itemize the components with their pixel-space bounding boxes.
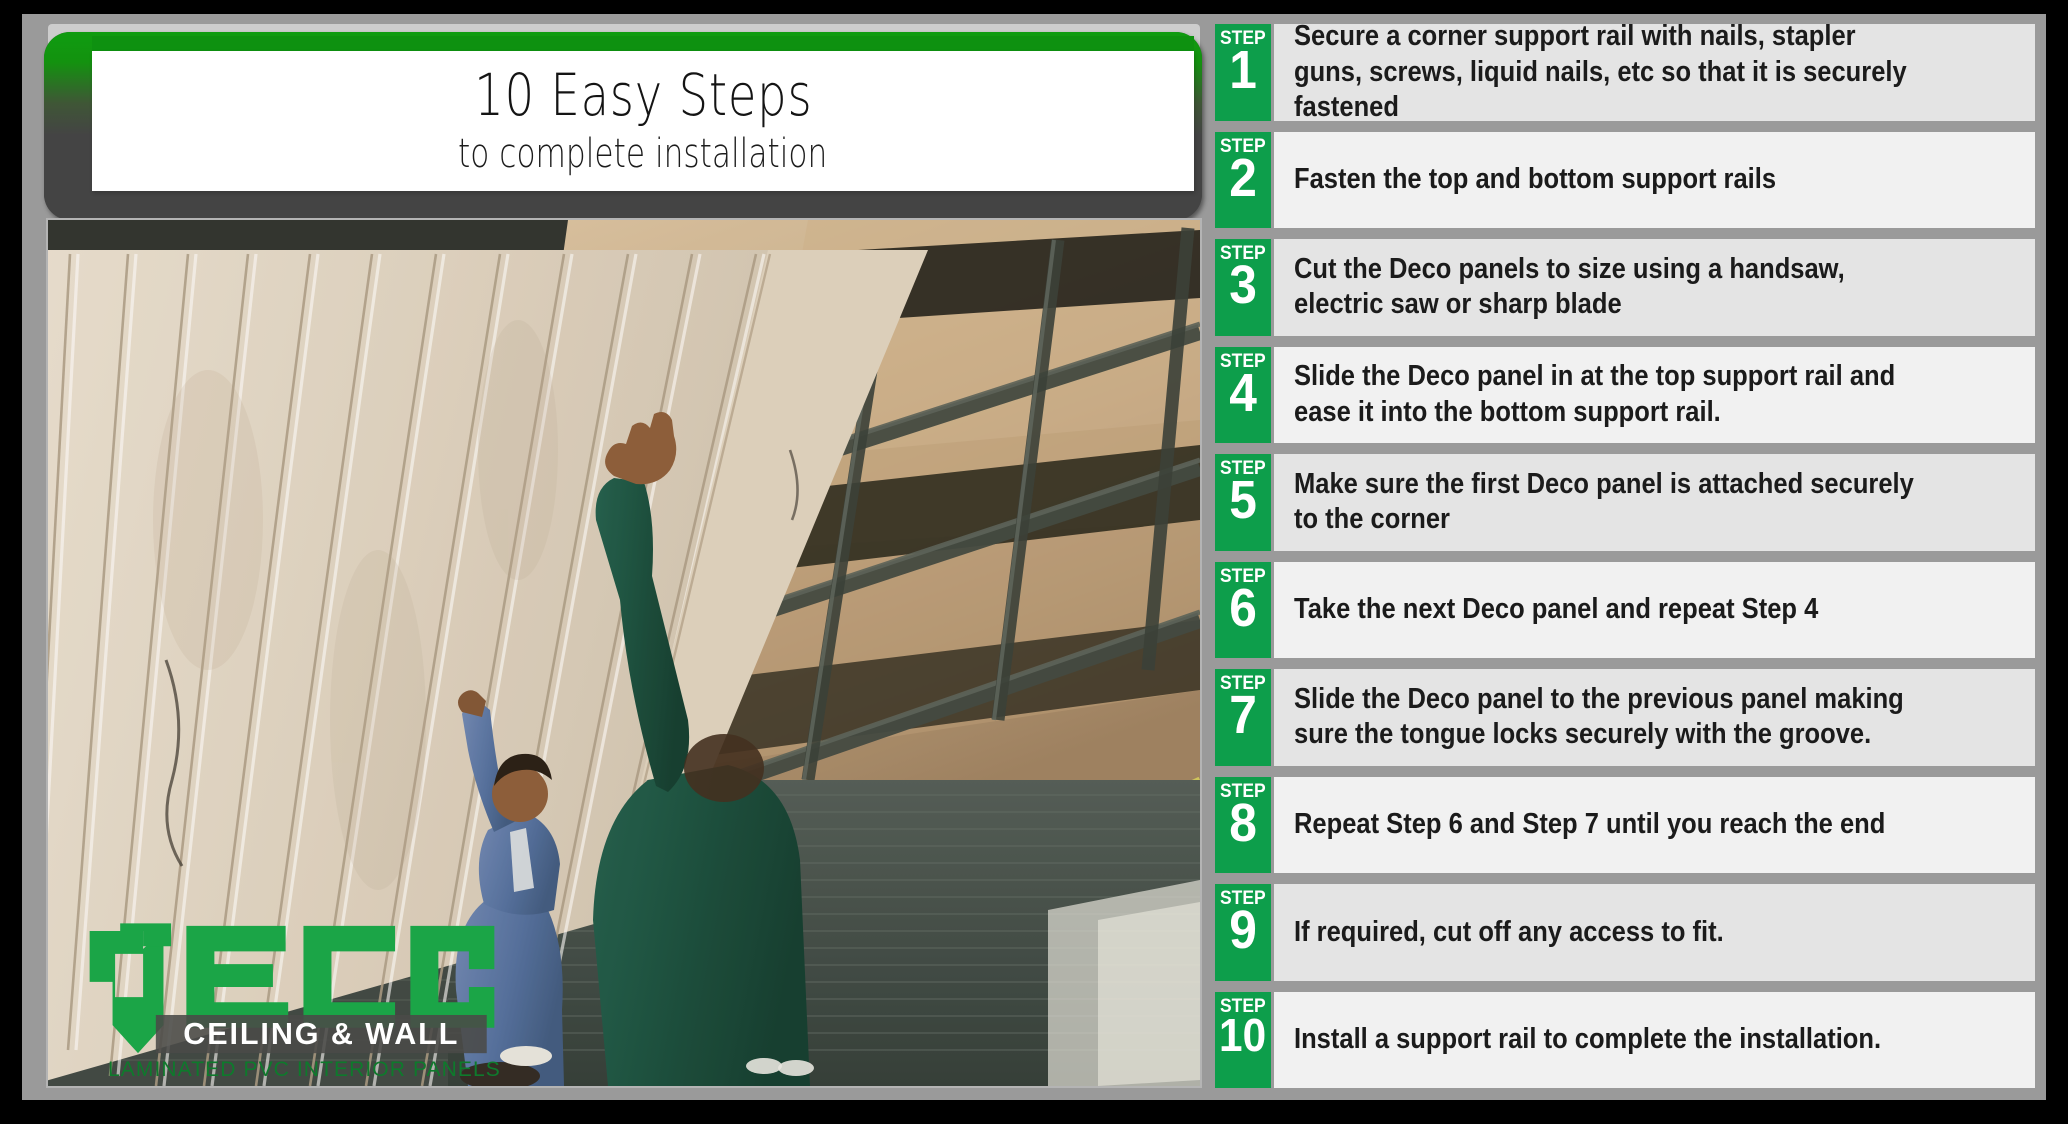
step-text: Install a support rail to complete the i… (1294, 1022, 1928, 1057)
step-text-box: Slide the Deco panel in at the top suppo… (1274, 347, 2035, 444)
steps-list: STEP 1 Secure a corner support rail with… (1215, 24, 2035, 1088)
step-badge-number: 4 (1229, 369, 1257, 419)
step-row: STEP 5 Make sure the first Deco panel is… (1215, 454, 2035, 551)
step-text-box: Secure a corner support rail with nails,… (1274, 24, 2035, 121)
step-badge: STEP 3 (1215, 239, 1271, 336)
step-badge-number: 1 (1229, 46, 1257, 96)
step-badge: STEP 4 (1215, 347, 1271, 444)
step-badge: STEP 8 (1215, 777, 1271, 874)
page-subtitle: to complete installation (458, 132, 827, 176)
poster-root: 10 Easy Steps to complete installation (22, 14, 2046, 1100)
photo-illustration (48, 220, 1200, 1086)
step-text-box: Slide the Deco panel to the previous pan… (1274, 669, 2035, 766)
step-row: STEP 1 Secure a corner support rail with… (1215, 24, 2035, 121)
step-text-box: Fasten the top and bottom support rails (1274, 132, 2035, 229)
installation-photo: CEILING & WALL LAMINATED PVC INTERIOR PA… (48, 220, 1200, 1086)
step-text: Secure a corner support rail with nails,… (1294, 19, 1928, 125)
step-row: STEP 8 Repeat Step 6 and Step 7 until yo… (1215, 777, 2035, 874)
step-text-box: Make sure the first Deco panel is attach… (1274, 454, 2035, 551)
step-badge-number: 6 (1229, 584, 1257, 634)
step-badge: STEP 7 (1215, 669, 1271, 766)
step-badge: STEP 1 (1215, 24, 1271, 121)
step-text: Make sure the first Deco panel is attach… (1294, 467, 1928, 538)
step-row: STEP 7 Slide the Deco panel to the previ… (1215, 669, 2035, 766)
step-badge-number: 7 (1229, 691, 1257, 741)
step-row: STEP 3 Cut the Deco panels to size using… (1215, 239, 2035, 336)
step-badge-number: 9 (1229, 906, 1257, 956)
step-badge-number: 8 (1229, 799, 1257, 849)
title-card: 10 Easy Steps to complete installation (92, 51, 1194, 191)
step-text: Repeat Step 6 and Step 7 until you reach… (1294, 807, 1928, 842)
step-row: STEP 4 Slide the Deco panel in at the to… (1215, 347, 2035, 444)
page-title: 10 Easy Steps (474, 66, 812, 125)
step-text-box: If required, cut off any access to fit. (1274, 884, 2035, 981)
step-row: STEP 10 Install a support rail to comple… (1215, 992, 2035, 1089)
step-badge: STEP 9 (1215, 884, 1271, 981)
step-text: Fasten the top and bottom support rails (1294, 162, 1928, 197)
step-text-box: Install a support rail to complete the i… (1274, 992, 2035, 1089)
step-badge: STEP 10 (1215, 992, 1271, 1089)
step-badge: STEP 2 (1215, 132, 1271, 229)
step-row: STEP 6 Take the next Deco panel and repe… (1215, 562, 2035, 659)
step-text: Cut the Deco panels to size using a hand… (1294, 252, 1928, 323)
step-badge: STEP 6 (1215, 562, 1271, 659)
step-text-box: Cut the Deco panels to size using a hand… (1274, 239, 2035, 336)
step-badge: STEP 5 (1215, 454, 1271, 551)
step-row: STEP 9 If required, cut off any access t… (1215, 884, 2035, 981)
step-text: Slide the Deco panel in at the top suppo… (1294, 359, 1928, 430)
left-column: 10 Easy Steps to complete installation (34, 24, 1204, 1088)
step-badge-number: 3 (1229, 261, 1257, 311)
step-text: If required, cut off any access to fit. (1294, 915, 1928, 950)
step-row: STEP 2 Fasten the top and bottom support… (1215, 132, 2035, 229)
step-badge-number: 10 (1219, 1014, 1266, 1056)
step-text-box: Repeat Step 6 and Step 7 until you reach… (1274, 777, 2035, 874)
step-text: Slide the Deco panel to the previous pan… (1294, 682, 1928, 753)
step-badge-number: 2 (1229, 154, 1257, 204)
step-badge-number: 5 (1229, 476, 1257, 526)
step-text-box: Take the next Deco panel and repeat Step… (1274, 562, 2035, 659)
step-text: Take the next Deco panel and repeat Step… (1294, 592, 1928, 627)
